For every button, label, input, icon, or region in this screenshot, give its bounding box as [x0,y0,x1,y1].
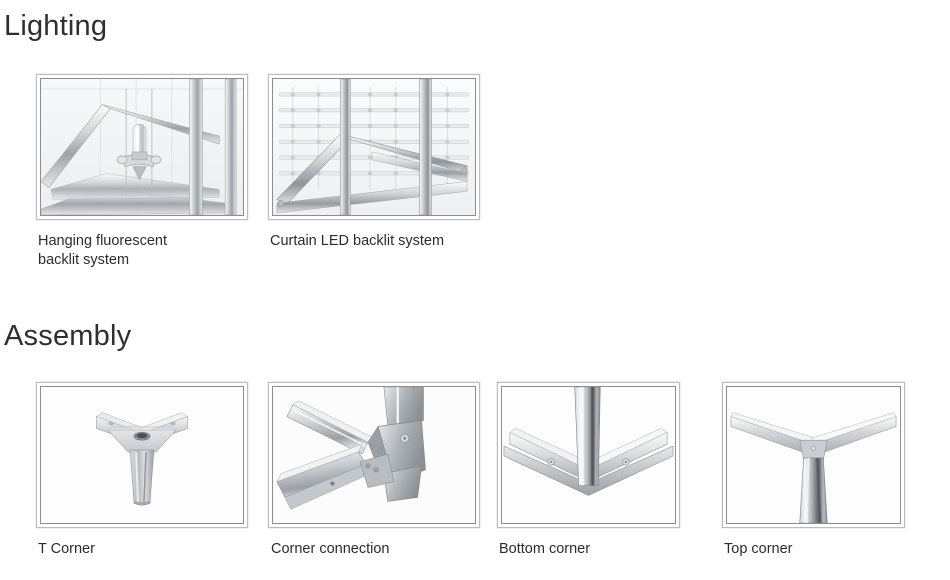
caption-corner-connection: Corner connection [271,540,390,559]
photo-top-corner-top-rails-and-post [727,387,900,523]
photo-t-corner-three-way-connector [41,387,243,523]
caption-bottom-corner: Bottom corner [499,540,590,559]
image-panel-bottom-corner [497,382,680,528]
panel-inner-frame [40,386,244,524]
image-panel-curtain-led [268,74,480,220]
photo-corner-connection-extrusion-joint [273,387,475,523]
image-panel-t-corner [36,382,248,528]
caption-top-corner: Top corner [724,540,793,559]
panel-inner-frame [501,386,676,524]
photo-aluminium-frame-with-led-curtain-backlight [273,79,475,215]
panel-inner-frame [40,78,244,216]
caption-hanging-fluorescent: Hanging fluorescent backlit system [38,232,238,270]
image-panel-top-corner [722,382,905,528]
photo-aluminium-frame-with-hanging-fluorescent-lamp [41,79,243,215]
panel-inner-frame [272,78,476,216]
panel-inner-frame [726,386,901,524]
section-heading-lighting: Lighting [4,12,107,41]
photo-bottom-corner-base-rails-and-post [502,387,675,523]
image-panel-corner-connection [268,382,480,528]
panel-inner-frame [272,386,476,524]
section-heading-assembly: Assembly [4,322,131,351]
caption-curtain-led: Curtain LED backlit system [270,232,500,251]
caption-t-corner: T Corner [38,540,95,559]
image-panel-hanging-fluorescent [36,74,248,220]
